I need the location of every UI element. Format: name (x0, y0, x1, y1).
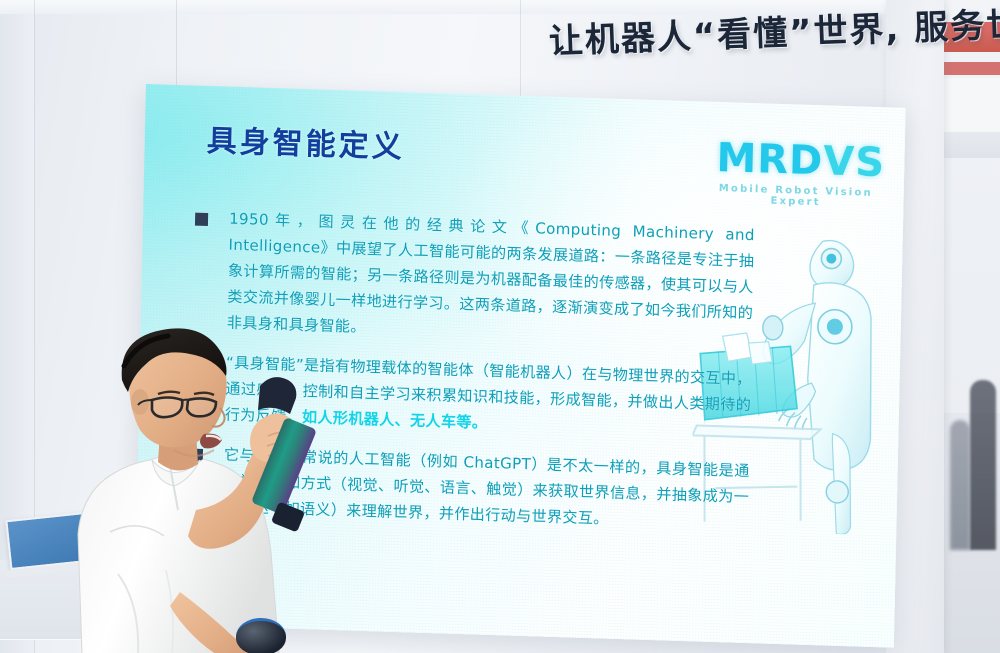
exhibition-hall-background (938, 0, 1000, 653)
presentation-scene: 让机器人“看懂”世界, 服务世界 具身智能定义 MRDVS Mobile Rob… (0, 0, 1000, 653)
mrdvs-logo: MRDVS Mobile Robot Vision Expert (715, 138, 876, 210)
slide-title: 具身智能定义 (206, 116, 405, 166)
presenter (48, 324, 348, 653)
logo-mark-part2: VS (823, 138, 886, 186)
hall-grey-band (938, 132, 1000, 158)
bullet-square-icon (195, 213, 208, 226)
logo-wordmark: MRDVS (716, 138, 877, 183)
presenter-svg (48, 324, 348, 653)
wall-banner: 让机器人“看懂”世界, 服务世界 (548, 14, 948, 76)
logo-mark-part1: MRD (716, 135, 824, 184)
wall-seam (520, 0, 521, 96)
hall-visitor-silhouette (970, 380, 996, 550)
presenter-remote (236, 618, 286, 653)
hall-white-panel (938, 78, 1000, 134)
hall-visitor-silhouette (950, 420, 970, 550)
